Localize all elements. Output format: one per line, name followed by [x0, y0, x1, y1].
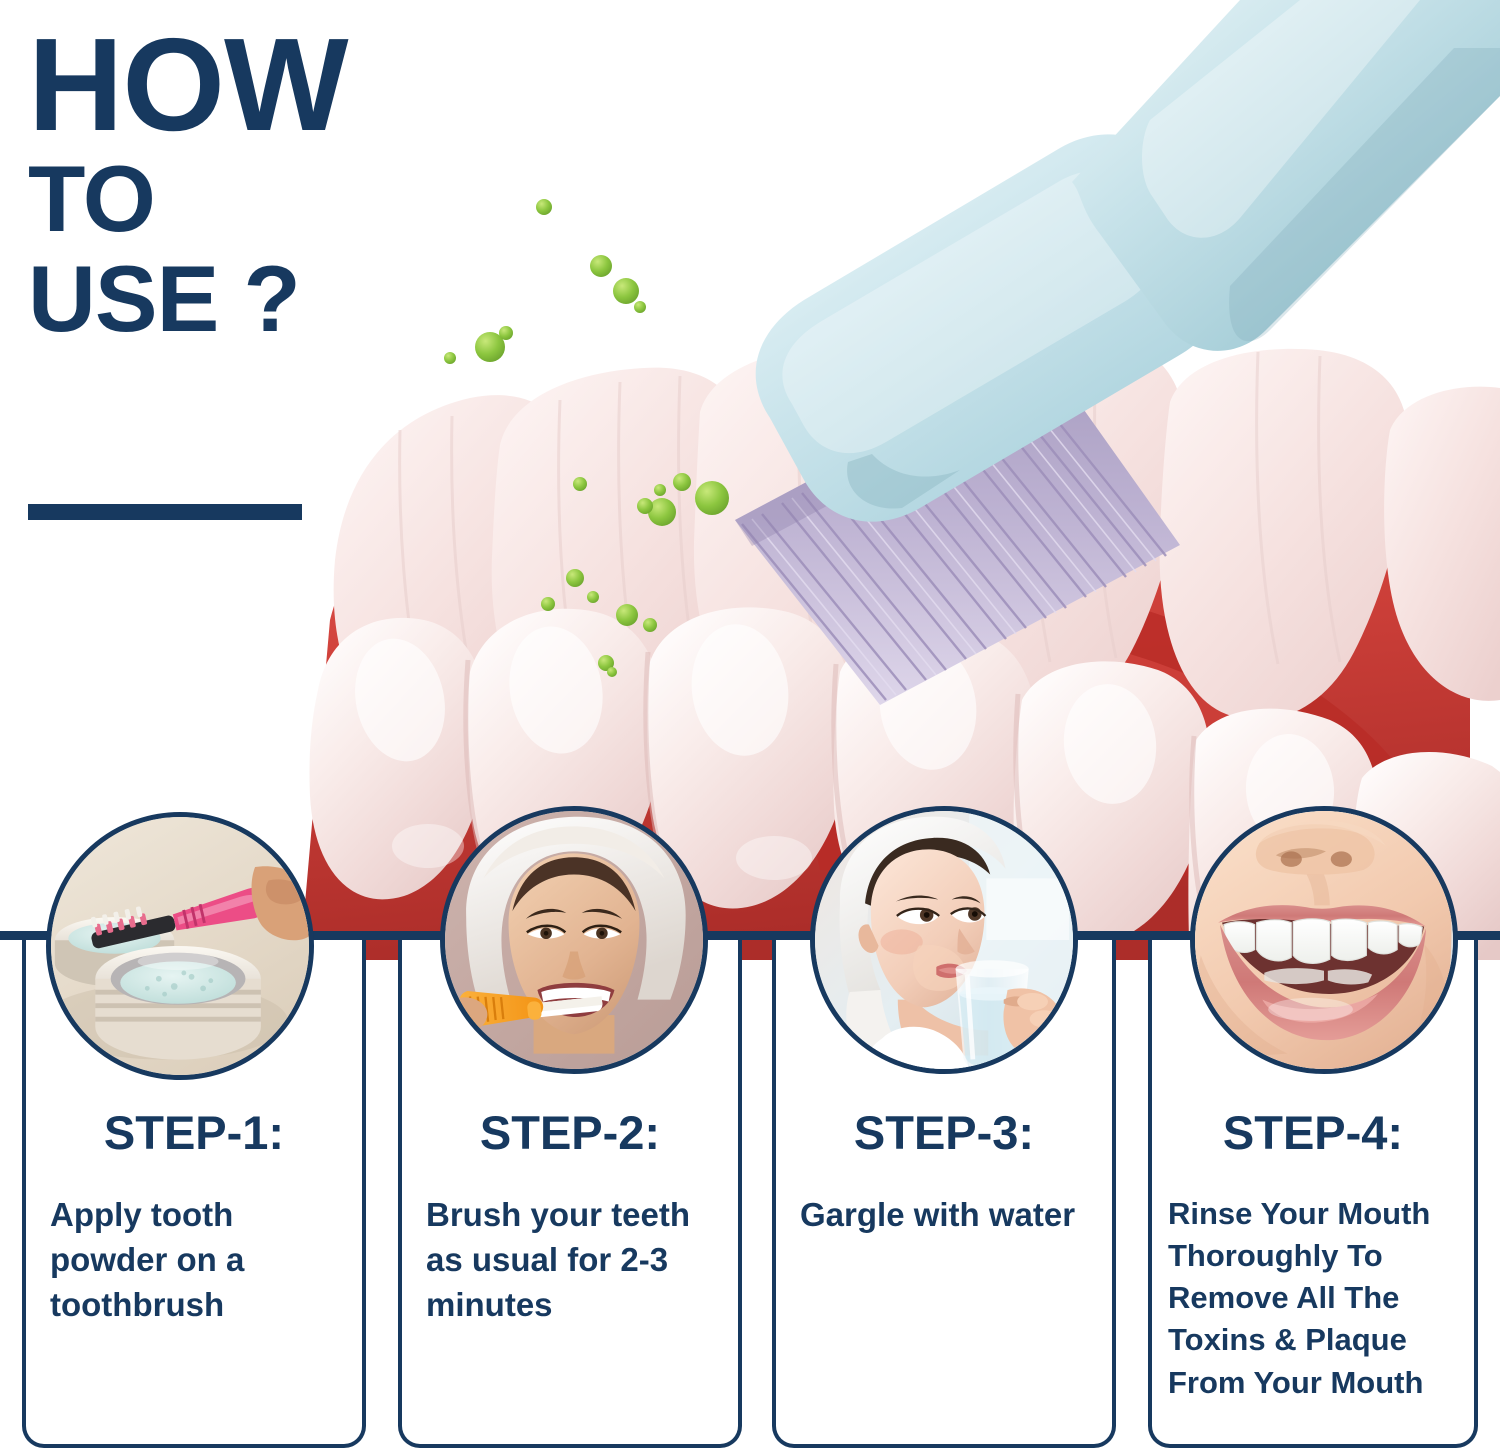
step-1-image [46, 812, 314, 1080]
tooth-powder-jar-illustration [51, 817, 309, 1075]
step-2-label: STEP-2: [402, 1105, 738, 1160]
step-2-description: Brush your teeth as usual for 2-3 minute… [402, 1193, 738, 1328]
title-line-how: HOW [28, 20, 498, 149]
step-1-description: Apply tooth powder on a toothbrush [26, 1193, 362, 1328]
woman-gargling-water-illustration [815, 811, 1073, 1069]
title-underline-rule [28, 504, 302, 520]
step-3-description: Gargle with water [776, 1193, 1112, 1238]
step-3-image [810, 806, 1078, 1074]
woman-brushing-teeth-illustration [445, 811, 703, 1069]
page-title: HOW TO USE ? [28, 20, 498, 346]
title-line-use: USE ? [28, 253, 498, 345]
step-3-label: STEP-3: [776, 1105, 1112, 1160]
title-line-to: TO [28, 153, 498, 245]
step-1-label: STEP-1: [26, 1105, 362, 1160]
step-4-image [1190, 806, 1458, 1074]
step-2-image [440, 806, 708, 1074]
step-4-description: Rinse Your Mouth Thoroughly To Remove Al… [1152, 1193, 1474, 1404]
step-4-label: STEP-4: [1152, 1105, 1474, 1160]
smiling-mouth-illustration [1195, 811, 1453, 1069]
